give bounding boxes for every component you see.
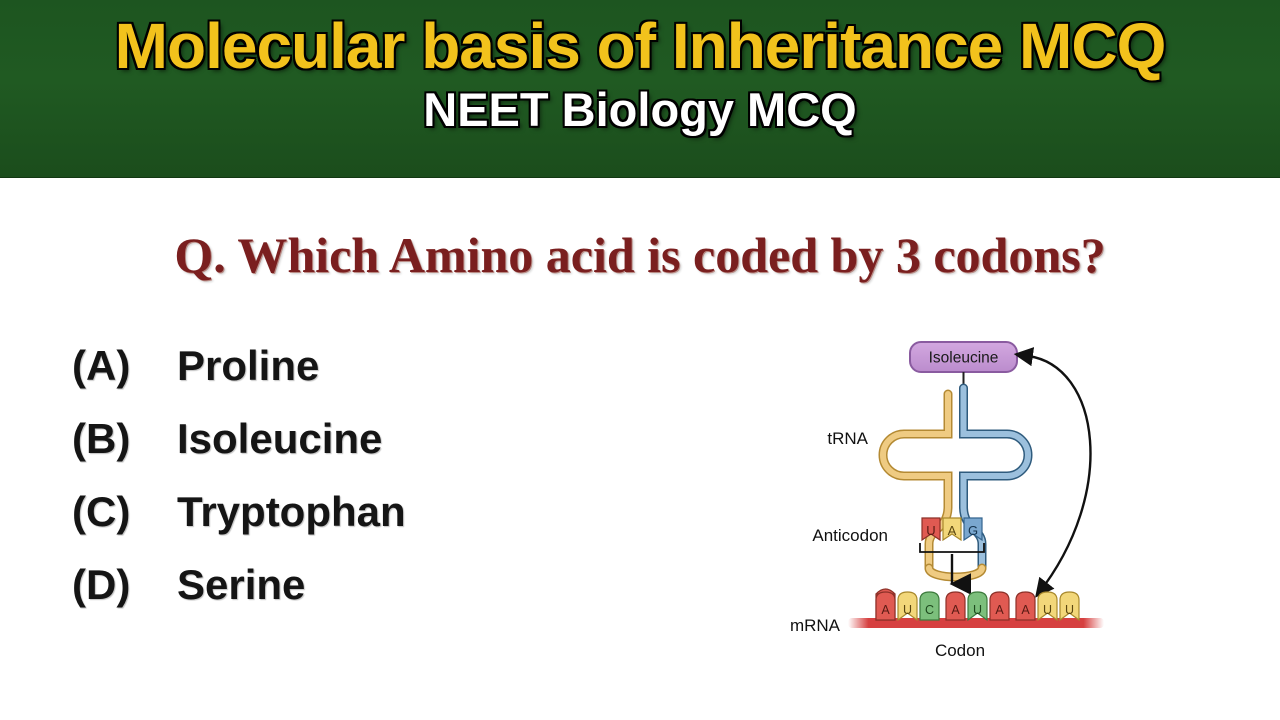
page-title: Molecular basis of Inheritance MCQ xyxy=(115,12,1166,81)
header-banner: Molecular basis of Inheritance MCQ NEET … xyxy=(0,0,1280,178)
mrna-base-0: A xyxy=(881,603,890,617)
trna-translation-diagram: Isoleucine tRNA Anticodon U xyxy=(770,322,1270,682)
anticodon-bases: U A G xyxy=(922,518,982,540)
codon-to-amino-acid-arrow xyxy=(1028,356,1090,594)
amino-acid-label: Isoleucine xyxy=(929,350,999,367)
question-text: Q. Which Amino acid is coded by 3 codons… xyxy=(0,228,1280,283)
mrna-base-4: U xyxy=(973,603,982,617)
anticodon-base-0: U xyxy=(926,523,935,538)
option-row-b[interactable]: (B) Isoleucine xyxy=(72,415,692,488)
option-label-a: Proline xyxy=(177,342,319,390)
option-label-b: Isoleucine xyxy=(177,415,382,463)
option-key-b: (B) xyxy=(72,415,177,463)
anticodon-loop-arc xyxy=(929,568,982,577)
option-key-c: (C) xyxy=(72,488,177,536)
trna-yellow-tube xyxy=(883,394,948,568)
page-subtitle: NEET Biology MCQ xyxy=(423,85,856,134)
option-row-c[interactable]: (C) Tryptophan xyxy=(72,488,692,561)
mrna-base-1: U xyxy=(903,603,912,617)
trna-label: tRNA xyxy=(827,429,868,448)
mrna-label: mRNA xyxy=(790,616,841,635)
anticodon-base-2: G xyxy=(968,523,978,538)
mrna-base-3: A xyxy=(951,603,960,617)
option-row-a[interactable]: (A) Proline xyxy=(72,342,692,415)
options-list: (A) Proline (B) Isoleucine (C) Tryptopha… xyxy=(72,342,692,634)
mrna-bases: A U C A U A A U U xyxy=(876,589,1079,620)
option-key-d: (D) xyxy=(72,561,177,609)
mrna-base-6: A xyxy=(1021,603,1030,617)
mrna-base-5: A xyxy=(995,603,1004,617)
anticodon-base-1: A xyxy=(948,523,957,538)
trna-blue-tube xyxy=(964,388,1029,568)
mrna-base-2: C xyxy=(925,603,934,617)
mrna-base-7: U xyxy=(1043,603,1052,617)
amino-acid-box: Isoleucine xyxy=(910,342,1017,372)
anticodon-label: Anticodon xyxy=(812,526,888,545)
option-key-a: (A) xyxy=(72,342,177,390)
option-label-d: Serine xyxy=(177,561,305,609)
mrna-base-8: U xyxy=(1065,603,1074,617)
option-label-c: Tryptophan xyxy=(177,488,406,536)
codon-label: Codon xyxy=(935,641,985,660)
option-row-d[interactable]: (D) Serine xyxy=(72,561,692,634)
